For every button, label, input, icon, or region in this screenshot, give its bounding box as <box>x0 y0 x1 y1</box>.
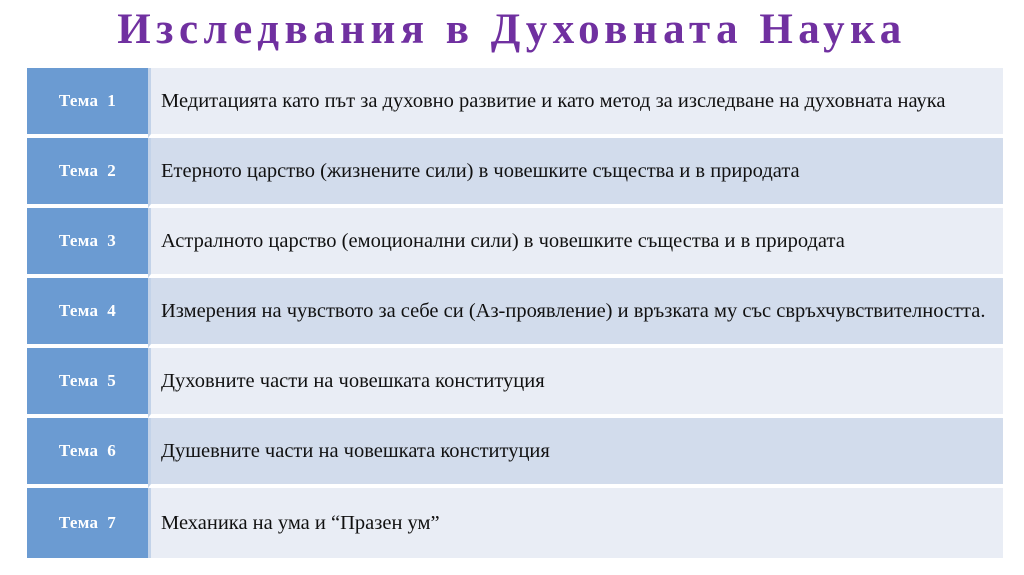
topic-text-cell-4: Измерения на чувството за себе си (Аз-пр… <box>148 278 1003 348</box>
topic-label-word: Тема <box>59 161 98 180</box>
topic-label-word: Тема <box>59 231 98 250</box>
topic-label-number: 5 <box>107 371 116 390</box>
topic-text-cell-5: Духовните части на човешката конституция <box>148 348 1003 418</box>
topic-label-word: Тема <box>59 301 98 320</box>
topics-table: Тема1 Медитацията като път за духовно ра… <box>27 68 1003 558</box>
table-row[interactable]: Тема4 Измерения на чувството за себе си … <box>27 278 1003 348</box>
table-row[interactable]: Тема6 Душевните части на човешката конст… <box>27 418 1003 488</box>
topic-label-number: 4 <box>107 301 116 320</box>
topic-label-word: Тема <box>59 513 98 532</box>
topic-label-word: Тема <box>59 441 98 460</box>
table-row[interactable]: Тема1 Медитацията като път за духовно ра… <box>27 68 1003 138</box>
topic-label-cell-4: Тема4 <box>27 278 148 348</box>
topic-label-cell-5: Тема5 <box>27 348 148 418</box>
topic-text-cell-6: Душевните части на човешката конституция <box>148 418 1003 488</box>
topic-label-number: 1 <box>107 91 116 110</box>
topic-label-cell-2: Тема2 <box>27 138 148 208</box>
topic-label-word: Тема <box>59 91 98 110</box>
table-row[interactable]: Тема2 Етерното царство (жизнените сили) … <box>27 138 1003 208</box>
topic-label-number: 2 <box>107 161 116 180</box>
topic-label-number: 7 <box>107 513 116 532</box>
table-row[interactable]: Тема5 Духовните части на човешката конст… <box>27 348 1003 418</box>
slide-canvas: Изследвания в Духовната Наука Тема1 Меди… <box>0 0 1024 575</box>
page-title: Изследвания в Духовната Наука <box>0 4 1024 56</box>
table-row[interactable]: Тема7 Механика на ума и “Празен ум” <box>27 488 1003 558</box>
topic-text-cell-3: Астралното царство (емоционални сили) в … <box>148 208 1003 278</box>
topic-label-number: 3 <box>107 231 116 250</box>
topic-label-cell-7: Тема7 <box>27 488 148 558</box>
topic-label-word: Тема <box>59 371 98 390</box>
topic-label-cell-1: Тема1 <box>27 68 148 138</box>
topics-table-body: Тема1 Медитацията като път за духовно ра… <box>27 68 1003 558</box>
topic-label-cell-6: Тема6 <box>27 418 148 488</box>
topic-label-number: 6 <box>107 441 116 460</box>
topic-text-cell-1: Медитацията като път за духовно развитие… <box>148 68 1003 138</box>
topic-text-cell-7: Механика на ума и “Празен ум” <box>148 488 1003 558</box>
topic-label-cell-3: Тема3 <box>27 208 148 278</box>
topic-text-cell-2: Етерното царство (жизнените сили) в чове… <box>148 138 1003 208</box>
table-row[interactable]: Тема3 Астралното царство (емоционални си… <box>27 208 1003 278</box>
